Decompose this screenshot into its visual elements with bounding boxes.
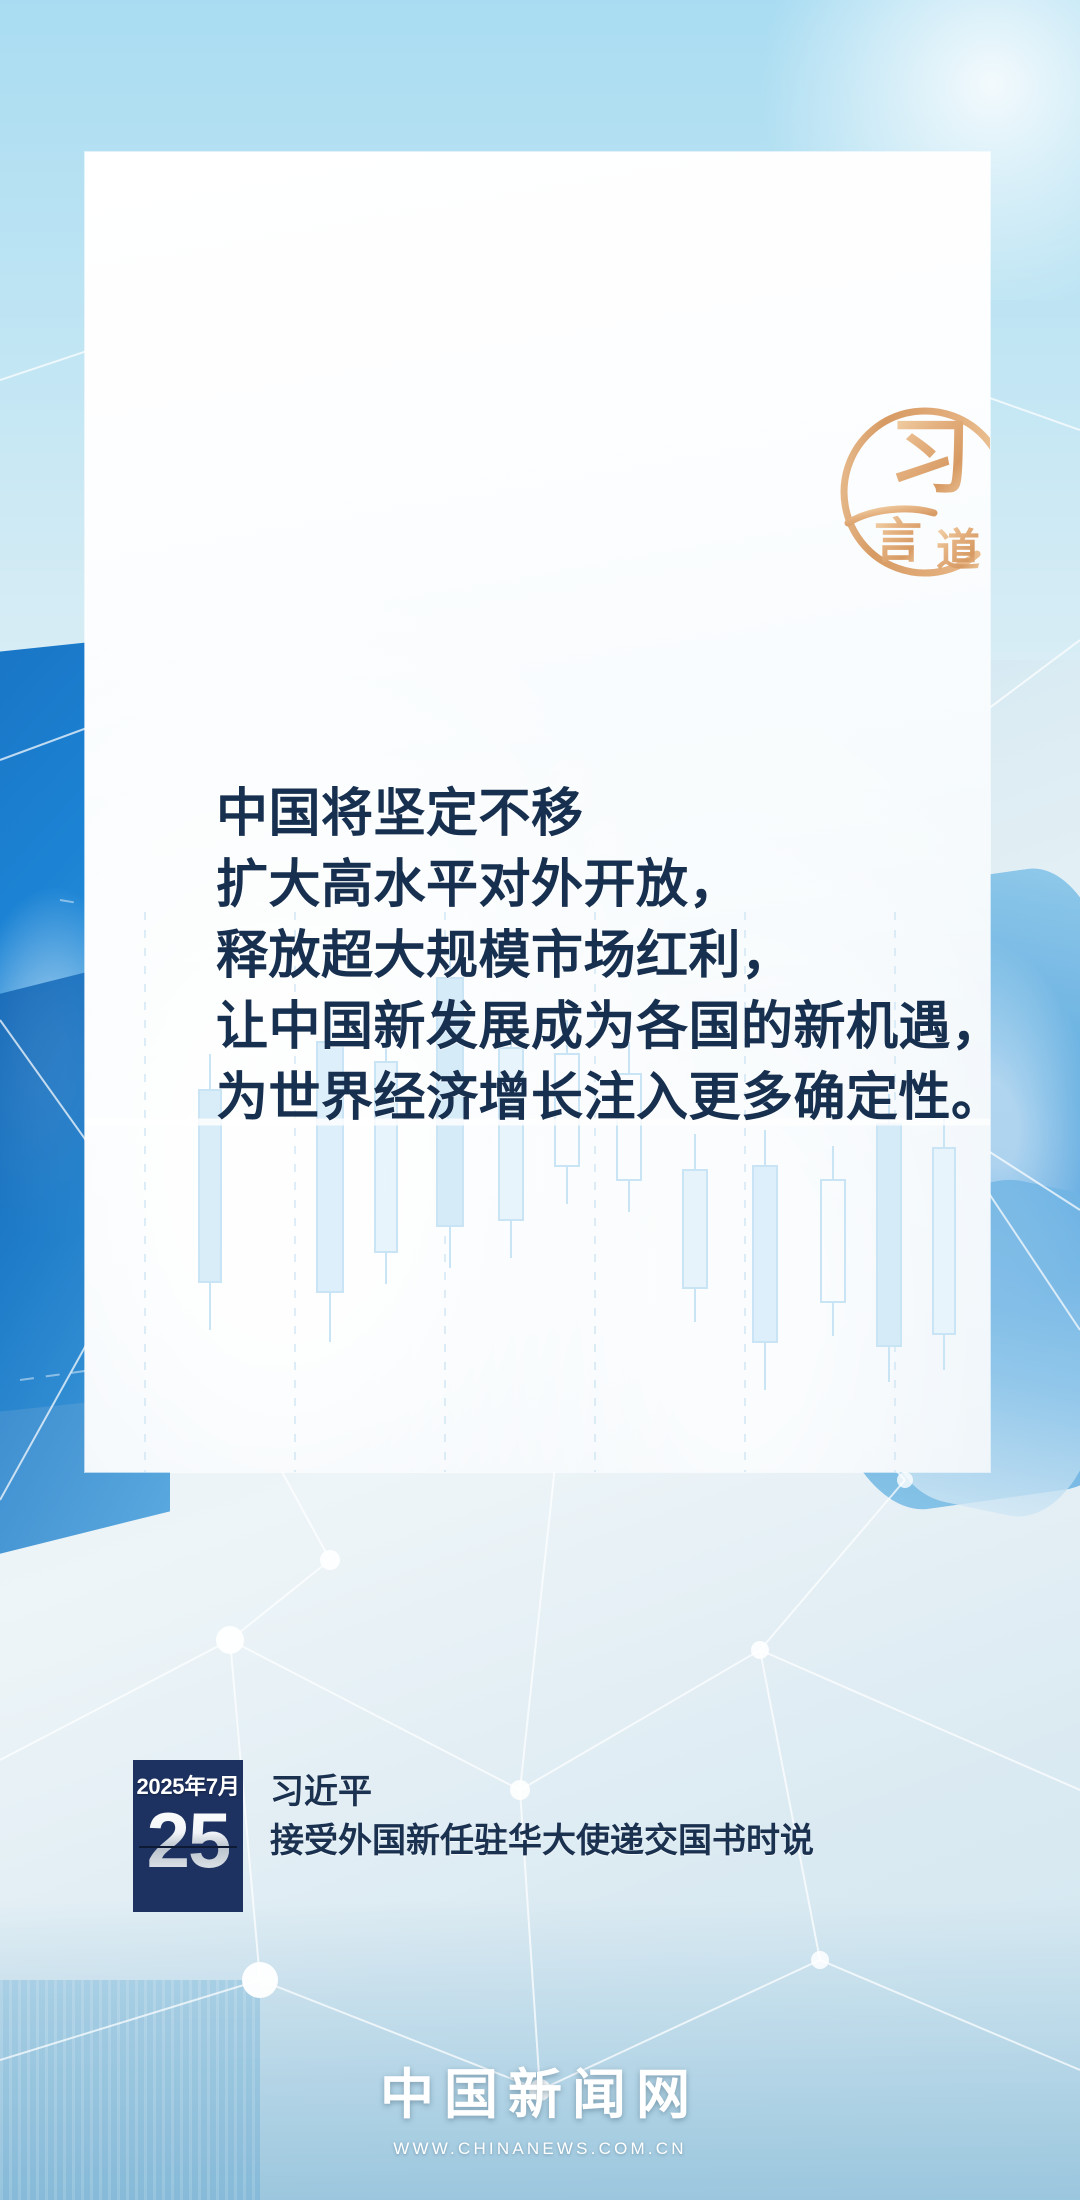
quote-line-3: 释放超大规模市场红利， xyxy=(216,921,990,992)
seal-char-dao: 道 xyxy=(936,526,980,575)
brand-block: 中国新闻网 WWW.CHINANEWS.COM.CN xyxy=(0,2050,1080,2159)
xi-yan-dao-seal: 习 言 道 xyxy=(830,397,990,587)
credit-text: 习近平 接受外国新任驻华大使递交国书时说 xyxy=(270,1760,814,1866)
credit-occasion: 接受外国新任驻华大使递交国书时说 xyxy=(270,1816,814,1866)
quote-line-2: 扩大高水平对外开放， xyxy=(216,850,990,921)
date-day: 25 xyxy=(147,1803,230,1877)
credit-speaker: 习近平 xyxy=(270,1768,814,1816)
poster-card: 习 言 道 中国将坚定不移 扩大高水平对外开放， 释放超大规模市场红利， 让中国… xyxy=(85,152,990,1472)
date-badge: 2025年7月 25 xyxy=(133,1760,243,1912)
date-badge-rule xyxy=(139,1846,237,1848)
credit-row: 2025年7月 25 习近平 接受外国新任驻华大使递交国书时说 xyxy=(133,1760,814,1912)
seal-char-xi: 习 xyxy=(889,412,971,503)
brand-name: 中国新闻网 xyxy=(0,2050,1080,2129)
quote-line-5: 为世界经济增长注入更多确定性。 xyxy=(216,1063,990,1134)
brand-url: WWW.CHINANEWS.COM.CN xyxy=(0,2139,1080,2159)
quote-line-4: 让中国新发展成为各国的新机遇， xyxy=(216,992,990,1063)
quote-block: 中国将坚定不移 扩大高水平对外开放， 释放超大规模市场红利， 让中国新发展成为各… xyxy=(216,779,990,1134)
seal-char-yan: 言 xyxy=(874,515,922,568)
quote-line-1: 中国将坚定不移 xyxy=(216,779,990,850)
